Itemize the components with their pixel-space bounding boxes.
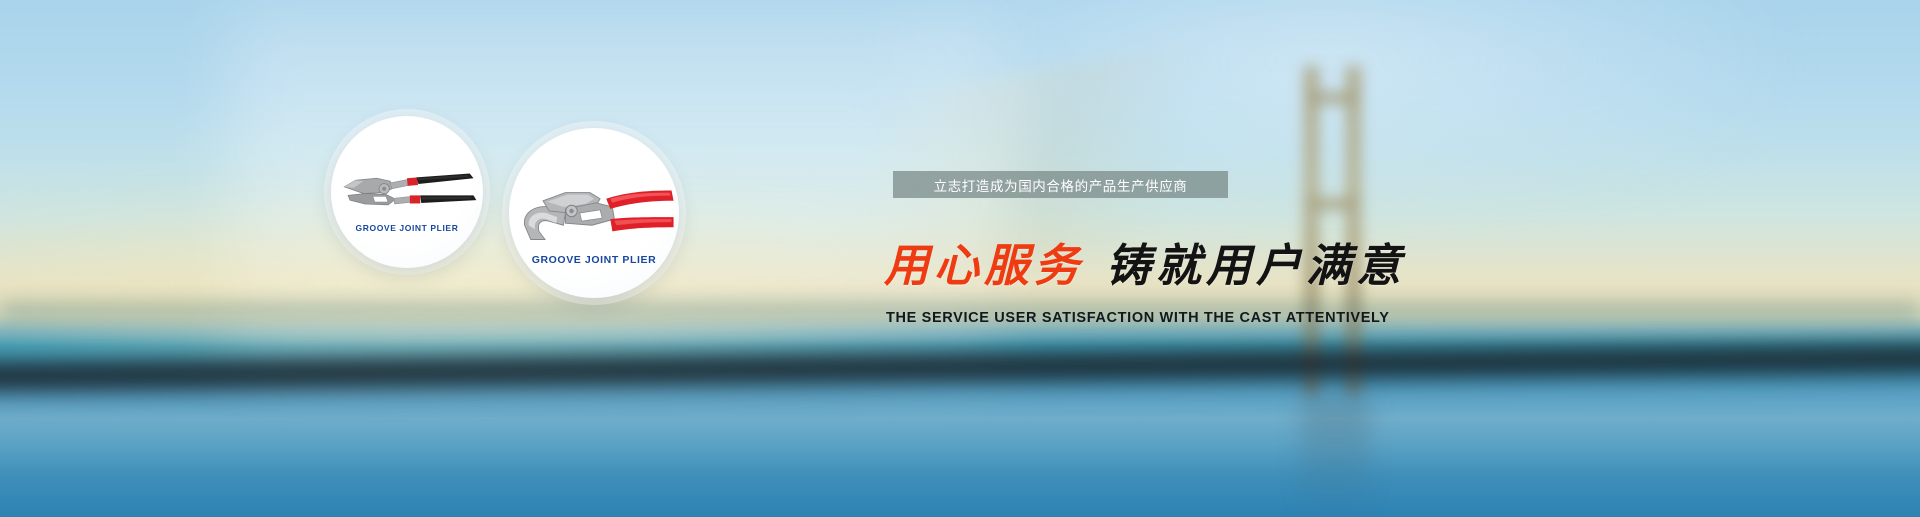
headline-primary: 用心服务 [884,239,1084,292]
product-circle-1[interactable]: GROOVE JOINT PLIER [331,116,483,268]
tower-crossbar-upper [1304,92,1361,104]
hero-banner: GROOVE JOINT PLIER [0,0,1920,517]
headline: 用心服务铸就用户满意 [884,243,1406,288]
tagline-bar: 立志打造成为国内合格的产品生产供应商 [893,171,1228,198]
tower-crossbar-lower [1304,198,1361,210]
tagline-text: 立志打造成为国内合格的产品生产供应商 [934,175,1188,195]
product-label-2: GROOVE JOINT PLIER [509,254,679,266]
product-label-1: GROOVE JOINT PLIER [331,223,483,233]
headline-secondary: 铸就用户满意 [1106,239,1406,292]
headline-subtitle: THE SERVICE USER SATISFACTION WITH THE C… [886,310,1390,326]
plier-image-2 [509,162,679,264]
bridge-deck [0,334,1920,406]
tower-reflection [1300,400,1370,517]
product-circle-2[interactable]: GROOVE JOINT PLIER [509,128,679,298]
